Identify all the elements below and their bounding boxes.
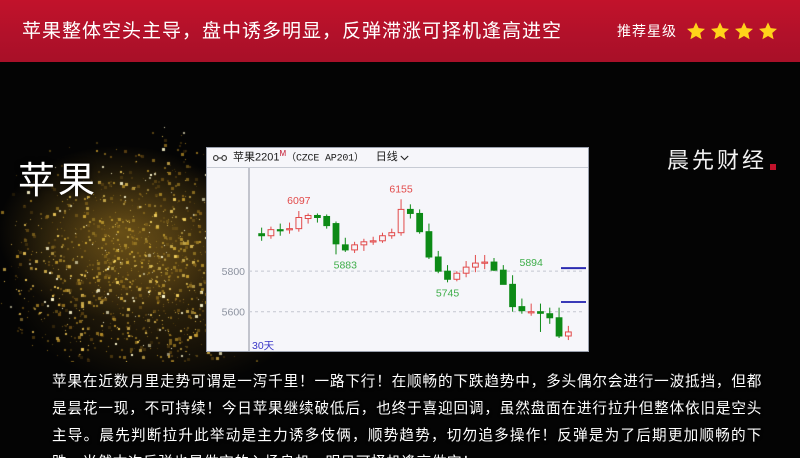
candle-body — [324, 216, 330, 225]
star-icon — [758, 21, 778, 41]
link-icon[interactable] — [213, 154, 227, 162]
star-icon — [686, 21, 706, 41]
symbol-exchange: （CZCE AP201） — [286, 154, 364, 165]
candle-body — [519, 307, 525, 311]
candlestick — [342, 238, 348, 252]
candle-body — [463, 267, 469, 273]
candlestick — [315, 213, 321, 222]
candle-body — [473, 263, 479, 267]
chart-toolbar: 苹果2201M（CZCE AP201） 日线 — [207, 148, 588, 168]
candle-body — [259, 234, 265, 236]
candlestick — [407, 204, 413, 218]
candle-body — [361, 242, 367, 245]
candlestick-chart: 560058006097615558835745589430天 — [207, 168, 588, 352]
candle-body — [500, 270, 506, 284]
analysis-paragraph: 苹果在近数月里走势可谓是一泻千里！一路下行！在顺畅的下跌趋势中，多头偶尔会进行一… — [52, 369, 762, 458]
candlestick — [380, 233, 386, 243]
price-annotation: 6097 — [287, 195, 311, 207]
candlestick — [352, 242, 358, 253]
candle-body — [305, 215, 311, 218]
star-icon — [734, 21, 754, 41]
candlestick — [556, 308, 562, 338]
candlestick — [500, 265, 506, 284]
candlestick — [538, 304, 544, 332]
y-axis-tick-label: 5600 — [222, 307, 246, 319]
y-axis-tick-label: 5800 — [222, 266, 246, 278]
chart-plot-area[interactable]: 560058006097615558835745589430天 — [207, 168, 588, 352]
candlestick — [491, 258, 497, 271]
candle-body — [482, 262, 488, 263]
candlestick — [565, 326, 571, 340]
price-annotation: 6155 — [389, 183, 413, 195]
candle-body — [296, 218, 302, 229]
candlestick — [370, 237, 376, 245]
candle-body — [407, 209, 413, 213]
candle-body — [510, 284, 516, 306]
candlestick — [287, 223, 293, 234]
symbol-label[interactable]: 苹果2201M（CZCE AP201） — [233, 150, 364, 165]
candlestick — [277, 224, 283, 236]
price-annotation: 5883 — [334, 259, 358, 271]
candle-body — [370, 241, 376, 242]
candlestick — [268, 227, 274, 239]
candle-body — [342, 245, 348, 250]
candlestick — [259, 228, 265, 241]
candle-body — [565, 332, 571, 336]
candlestick — [389, 229, 395, 239]
candle-body — [380, 236, 386, 241]
range-label[interactable]: 30天 — [252, 340, 275, 352]
candlestick — [333, 222, 339, 255]
candle-body — [491, 262, 497, 270]
candlestick — [510, 275, 516, 311]
price-chart-card[interactable]: 苹果2201M（CZCE AP201） 日线 56005800609761555… — [206, 147, 589, 352]
candlestick — [482, 255, 488, 269]
period-selector[interactable]: 日线 — [376, 152, 409, 163]
candle-body — [398, 209, 404, 232]
star-rating — [686, 21, 778, 41]
candle-body — [454, 273, 460, 279]
symbol-name: 苹果2201 — [233, 152, 279, 164]
chevron-down-icon — [400, 155, 409, 161]
candlestick — [454, 271, 460, 281]
candlestick — [361, 239, 367, 251]
candle-body — [417, 213, 423, 231]
candle-body — [268, 230, 274, 236]
star-icon — [710, 21, 730, 41]
candlestick — [528, 304, 534, 316]
candlestick — [296, 211, 302, 232]
headline-text: 苹果整体空头主导，盘中诱多明显，反弹滞涨可择机逢高进空 — [22, 22, 562, 41]
candlestick — [398, 199, 404, 235]
brand-logo: 晨先财经 — [667, 150, 776, 172]
rating-label: 推荐星级 — [617, 21, 677, 41]
candle-body — [389, 233, 395, 236]
candle-body — [277, 230, 283, 231]
header-banner: 苹果整体空头主导，盘中诱多明显，反弹滞涨可择机逢高进空 推荐星级 — [0, 0, 800, 62]
candlestick — [445, 265, 451, 282]
main-stage: 苹果 晨先财经 苹果2201M（CZCE AP201） 日线 560058006… — [0, 62, 800, 458]
page-title: 苹果 — [18, 162, 98, 199]
candle-body — [556, 318, 562, 336]
candlestick — [417, 209, 423, 233]
candlestick — [463, 261, 469, 277]
candle-body — [435, 257, 441, 271]
period-label: 日线 — [376, 152, 398, 163]
price-annotation: 5894 — [519, 257, 543, 269]
candle-body — [426, 232, 432, 257]
candle-body — [547, 314, 553, 318]
brand-text: 晨先财经 — [667, 150, 767, 172]
candlestick — [435, 251, 441, 273]
candle-body — [333, 224, 339, 244]
rating-group: 推荐星级 — [617, 21, 778, 41]
brand-dot-icon — [770, 164, 776, 170]
candle-body — [315, 215, 321, 217]
candle-body — [445, 271, 451, 279]
price-annotation: 5745 — [436, 287, 460, 299]
candle-body — [538, 312, 544, 314]
candle-body — [287, 229, 293, 230]
candlestick — [547, 308, 553, 324]
candlestick — [473, 255, 479, 272]
candle-body — [352, 245, 358, 250]
candlestick — [305, 213, 311, 223]
candlestick — [426, 224, 432, 259]
analysis-text: 苹果在近数月里走势可谓是一泻千里！一路下行！在顺畅的下跌趋势中，多头偶尔会进行一… — [52, 369, 762, 458]
candlestick — [324, 214, 330, 228]
candle-body — [528, 312, 534, 313]
